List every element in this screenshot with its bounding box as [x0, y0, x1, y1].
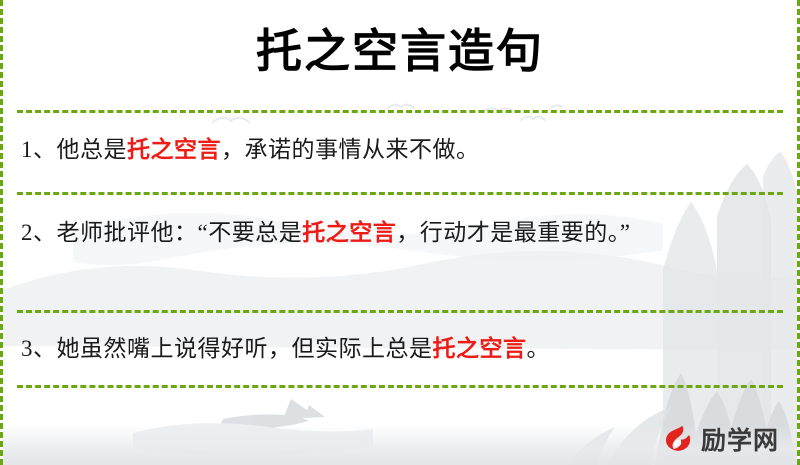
divider-after-item-3	[17, 385, 783, 388]
sentence-3-after: 。	[527, 336, 551, 361]
sentence-1-index: 1、	[21, 137, 57, 162]
sentence-2-idiom: 托之空言	[302, 220, 396, 245]
sentence-1-before: 他总是	[57, 137, 128, 162]
sentence-1-after: ，承诺的事情从来不做。	[221, 137, 480, 162]
example-sentence-2: 2、老师批评他：“不要总是托之空言，行动才是最重要的。”	[21, 214, 773, 252]
sentence-2-before: 老师批评他：“不要总是	[57, 220, 303, 245]
flame-swirl-logo-icon	[660, 423, 694, 457]
sentence-2-after: ，行动才是最重要的。”	[396, 220, 630, 245]
sentence-3-index: 3、	[21, 336, 57, 361]
divider-after-item-2	[17, 310, 783, 313]
divider-after-item-1	[17, 192, 783, 195]
sentence-3-idiom: 托之空言	[433, 336, 527, 361]
mist-wash-watermark	[3, 170, 800, 350]
sentence-2-index: 2、	[21, 220, 57, 245]
site-logo[interactable]: 励学网	[660, 423, 779, 457]
sentence-1-idiom: 托之空言	[127, 137, 221, 162]
boat-watermark	[123, 395, 383, 455]
mountain-ink-wash-watermark	[567, 150, 797, 465]
page-title: 托之空言造句	[3, 26, 797, 77]
example-sentence-1: 1、他总是托之空言，承诺的事情从来不做。	[21, 131, 773, 169]
worksheet-page: 托之空言造句 1、他总是托之空言，承诺的事情从来不做。 2、老师批评他：“不要总…	[0, 0, 800, 465]
divider-under-title	[17, 110, 783, 113]
site-logo-text: 励学网	[701, 428, 779, 453]
example-sentence-3: 3、她虽然嘴上说得好听，但实际上总是托之空言。	[21, 330, 773, 368]
sentence-3-before: 她虽然嘴上说得好听，但实际上总是	[57, 336, 433, 361]
